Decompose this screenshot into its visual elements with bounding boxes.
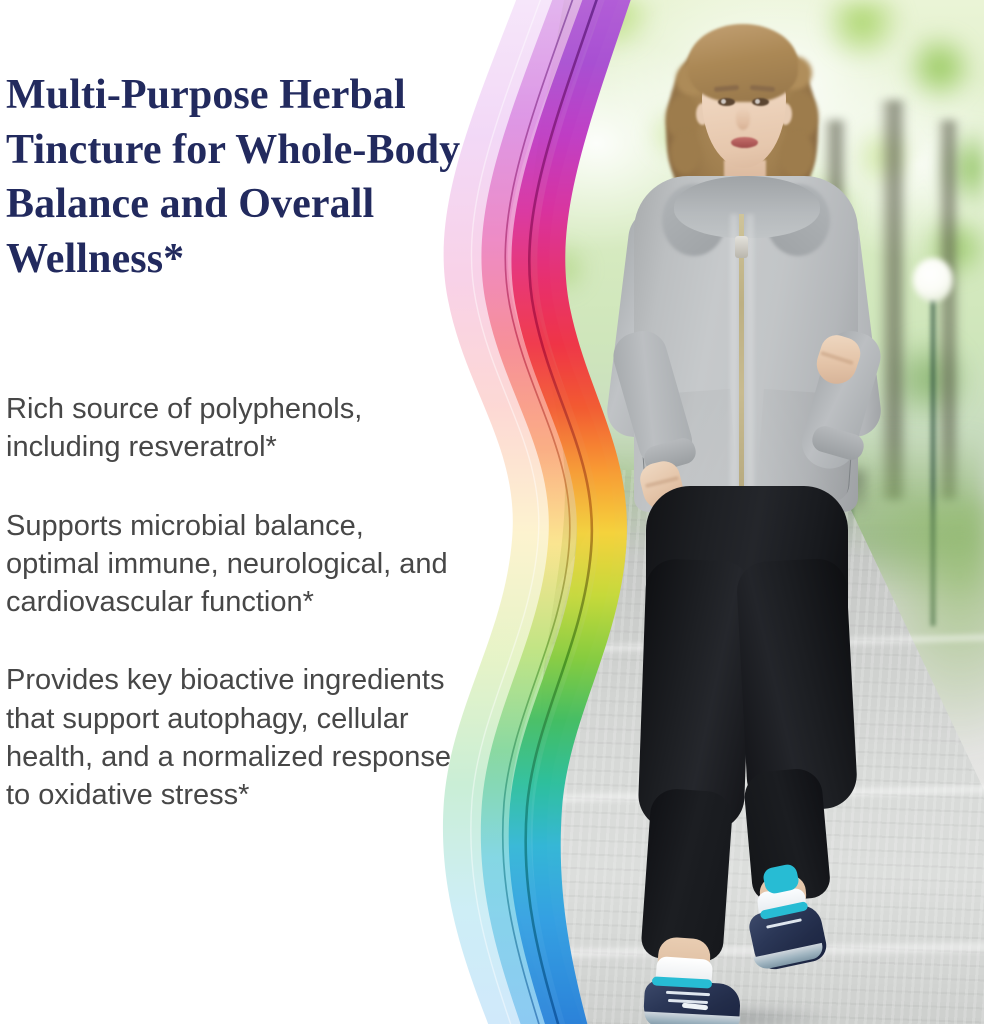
benefit-list: Rich source of polyphenols, including re…	[6, 390, 456, 814]
runner-photo	[430, 0, 984, 1024]
page-title: Multi-Purpose Herbal Tincture for Whole-…	[6, 68, 506, 286]
product-benefit-banner: Multi-Purpose Herbal Tincture for Whole-…	[0, 0, 984, 1024]
eye-highlight-right	[755, 99, 760, 104]
benefit-item-1: Rich source of polyphenols, including re…	[6, 390, 456, 467]
nose	[736, 108, 750, 130]
hair-top	[688, 24, 798, 102]
benefit-item-3: Provides key bioactive ingredients that …	[6, 661, 456, 814]
hoodie-zipper	[739, 214, 744, 512]
text-column: Multi-Purpose Herbal Tincture for Whole-…	[0, 0, 470, 1024]
hair-curl	[670, 132, 700, 174]
benefit-item-2: Supports microbial balance, optimal immu…	[6, 507, 456, 622]
leggings-shin-left	[640, 787, 734, 962]
hair-curl	[780, 132, 814, 178]
lips	[731, 137, 758, 148]
zipper-seam-right	[746, 214, 754, 512]
zipper-pull-icon	[735, 236, 748, 258]
runner-figure	[430, 0, 984, 1024]
eye-highlight-left	[721, 99, 726, 104]
